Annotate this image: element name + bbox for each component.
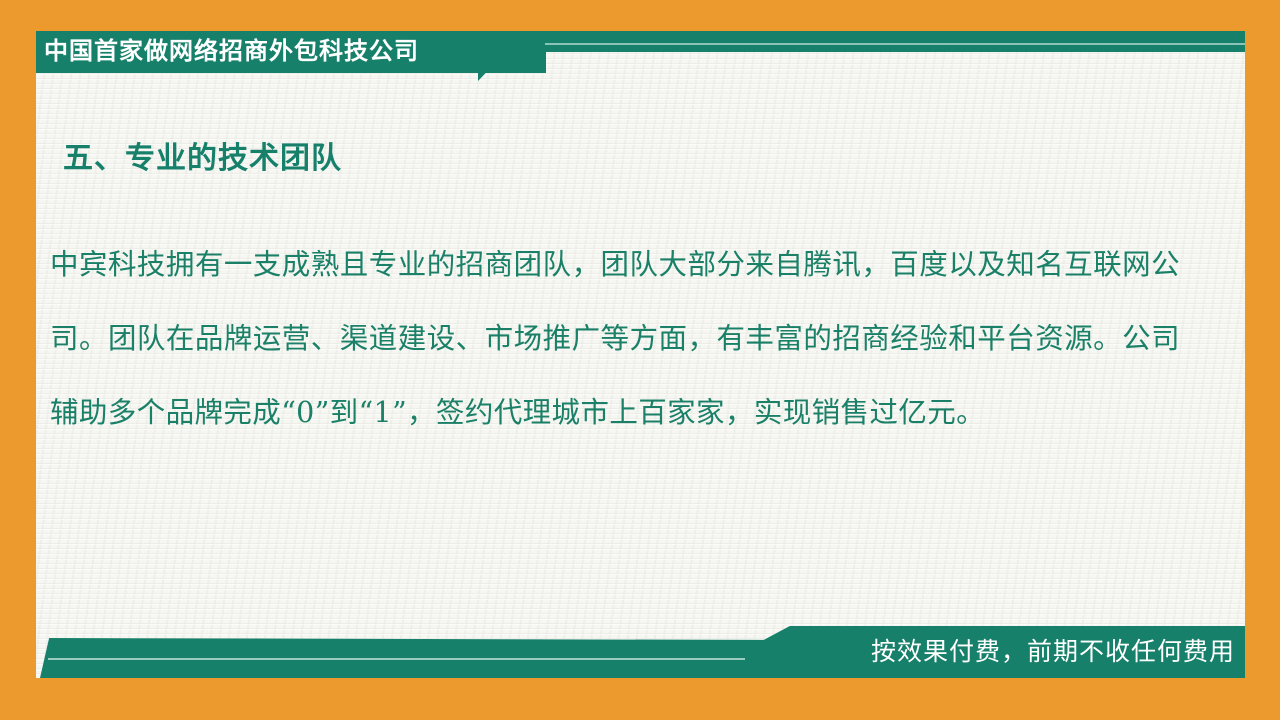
frame-edge-left bbox=[0, 0, 36, 720]
body-paragraph: 中宾科技拥有一支成熟且专业的招商团队，团队大部分来自腾讯，百度以及知名互联网公司… bbox=[50, 228, 1180, 450]
frame-edge-bottom bbox=[0, 678, 1280, 720]
frame-edge-right bbox=[1245, 0, 1280, 720]
frame-edge-top bbox=[0, 0, 1280, 31]
presentation-slide: 中国首家做网络招商外包科技公司 五、专业的技术团队 中宾科技拥有一支成熟且专业的… bbox=[0, 0, 1280, 720]
section-heading: 五、专业的技术团队 bbox=[63, 133, 342, 177]
